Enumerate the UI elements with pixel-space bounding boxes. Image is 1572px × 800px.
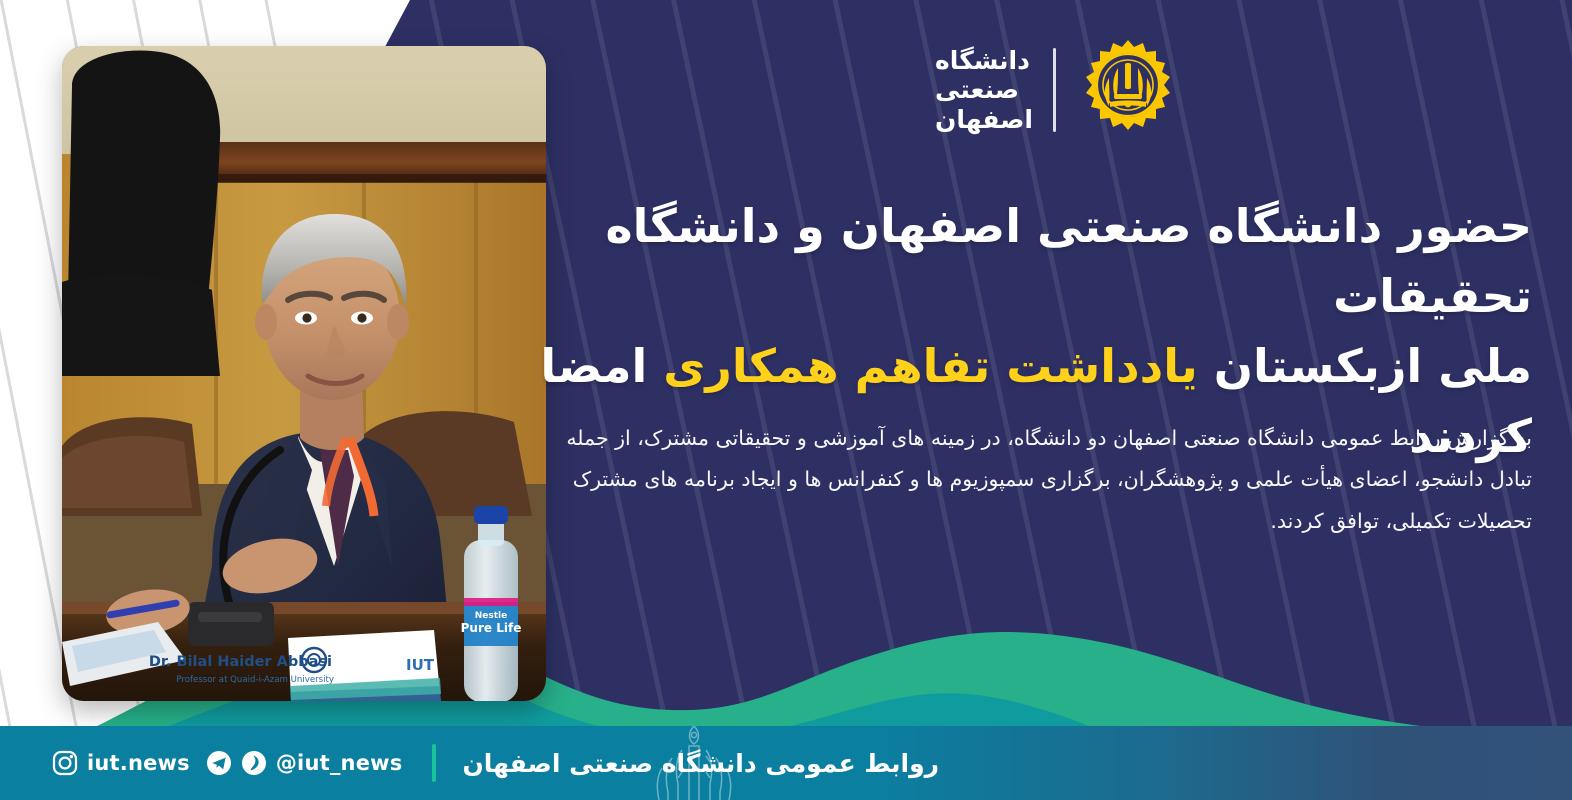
brand-name-line-1: دانشگاه xyxy=(935,46,1030,76)
headline-line-1-text: حضور دانشگاه صنعتی اصفهان و دانشگاه تحقی… xyxy=(606,199,1532,323)
iut-gear-emblem-icon xyxy=(1076,38,1180,142)
organization-label: روابط عمومی دانشگاه صنعتی اصفهان xyxy=(462,749,939,778)
svg-text:Dr. Bilal Haider Abbasi: Dr. Bilal Haider Abbasi xyxy=(149,654,332,670)
news-photo-card: Dr. Bilal Haider Abbasi Professor at Qua… xyxy=(62,46,546,701)
instagram-icon xyxy=(52,750,78,776)
headline-line-1: حضور دانشگاه صنعتی اصفهان و دانشگاه تحقی… xyxy=(520,192,1532,332)
svg-text:Nestle: Nestle xyxy=(475,611,507,621)
messenger-accounts[interactable]: @iut_news xyxy=(206,750,403,776)
brand-name-line-2: صنعتی xyxy=(935,75,1019,105)
bale-icon xyxy=(241,750,267,776)
messenger-handle: @iut_news xyxy=(276,751,403,775)
headline-line-2-prefix: ملی ازبکستان xyxy=(1198,339,1532,393)
instagram-handle: iut.news xyxy=(87,751,190,775)
footer-bar: iut.news @iut_news xyxy=(0,726,1572,800)
brand-name-block: دانشگاه صنعتی اصفهان xyxy=(935,46,1033,135)
instagram-account[interactable]: iut.news xyxy=(52,750,190,776)
headline-highlight: یادداشت تفاهم همکاری xyxy=(663,339,1198,393)
svg-text:IUT: IUT xyxy=(406,656,435,674)
brand-lockup: دانشگاه صنعتی اصفهان xyxy=(935,38,1180,142)
brand-name-line-3: اصفهان xyxy=(935,105,1033,135)
news-poster: Dr. Bilal Haider Abbasi Professor at Qua… xyxy=(0,0,1572,800)
svg-text:Pure Life: Pure Life xyxy=(461,621,522,635)
svg-text:Professor at Quaid-i-Azam Univ: Professor at Quaid-i-Azam University xyxy=(176,675,334,685)
telegram-icon xyxy=(206,750,232,776)
footer-separator xyxy=(432,744,436,782)
brand-divider xyxy=(1053,48,1056,132)
body-paragraph: به گزارش روابط عمومی دانشگاه صنعتی اصفها… xyxy=(520,418,1532,542)
